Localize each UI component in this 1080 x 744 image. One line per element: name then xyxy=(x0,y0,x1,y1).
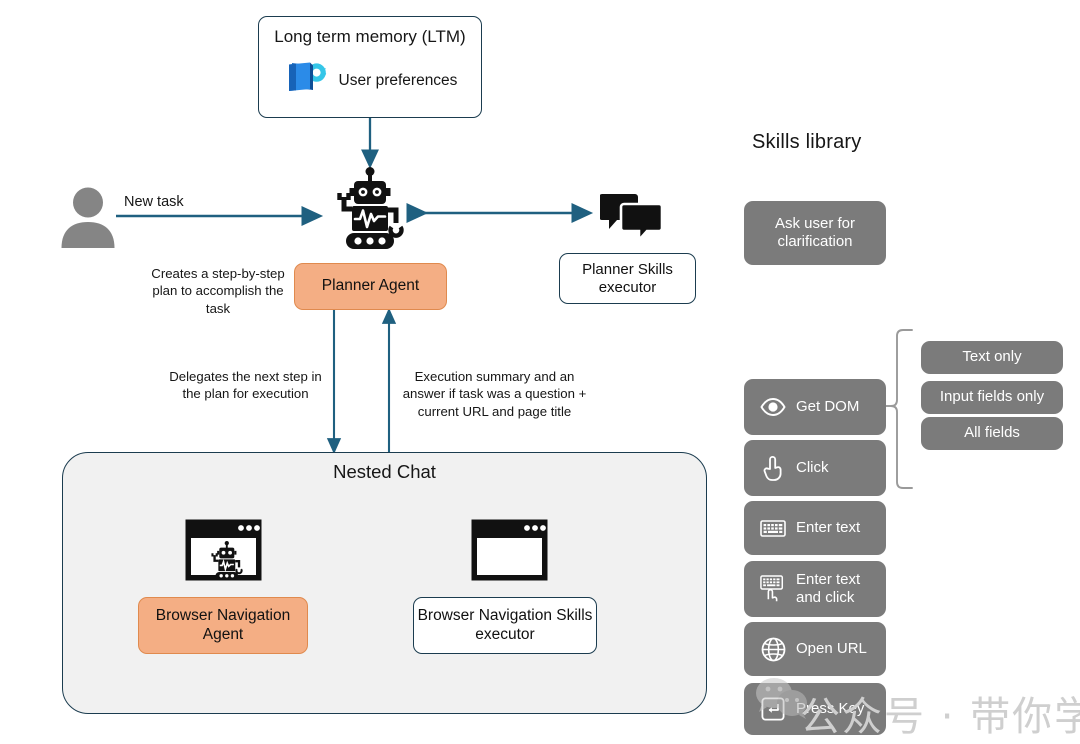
skills-library-title: Skills library xyxy=(752,131,861,154)
browser-navigation-agent-box[interactable]: Browser Navigation Agent xyxy=(138,597,308,654)
nested-chat-panel xyxy=(62,452,707,714)
get-dom-option-all-fields[interactable]: All fields xyxy=(921,417,1063,450)
skill-label: Ask user for clarification xyxy=(744,215,886,251)
chat-bubbles-icon xyxy=(600,192,662,245)
skill-label: Open URL xyxy=(796,640,867,658)
get-dom-option-text-only[interactable]: Text only xyxy=(921,341,1063,374)
skill-label: Enter text xyxy=(796,519,860,537)
browser-navigation-agent-label: Browser Navigation Agent xyxy=(139,607,307,645)
skill-label: Click xyxy=(796,459,829,477)
keyboard-icon xyxy=(760,515,786,541)
browser-navigation-skills-executor-box[interactable]: Browser Navigation Skills executor xyxy=(413,597,597,654)
keyboard-pointer-icon xyxy=(760,574,786,604)
skill-ask-user-for-clarification[interactable]: Ask user for clarification xyxy=(744,201,886,265)
browser-window-robot-icon xyxy=(184,518,263,587)
planner-agent-label: Planner Agent xyxy=(322,277,419,296)
get-dom-option-input-fields-only[interactable]: Input fields only xyxy=(921,381,1063,414)
summary-edge-label: Execution summary and an answer if task … xyxy=(402,368,587,420)
skill-enter-text[interactable]: Enter text xyxy=(744,501,886,555)
planner-skills-executor-box[interactable]: Planner Skills executor xyxy=(559,253,696,304)
browser-navigation-skills-executor-label: Browser Navigation Skills executor xyxy=(414,607,596,645)
ltm-title: Long term memory (LTM) xyxy=(267,27,473,47)
skill-label: Enter text and click xyxy=(796,571,886,607)
skill-label: Get DOM xyxy=(796,398,859,416)
option-label: Text only xyxy=(962,348,1021,366)
planner-skills-executor-label: Planner Skills executor xyxy=(560,261,695,297)
planner-note: Creates a step-by-step plan to accomplis… xyxy=(144,265,292,317)
option-label: All fields xyxy=(964,424,1020,442)
skill-enter-text-and-click[interactable]: Enter text and click xyxy=(744,561,886,617)
delegate-edge-label: Delegates the next step in the plan for … xyxy=(163,368,328,403)
skill-get-dom[interactable]: Get DOM xyxy=(744,379,886,435)
skill-open-url[interactable]: Open URL xyxy=(744,622,886,676)
user-avatar-icon xyxy=(60,186,116,253)
skill-click[interactable]: Click xyxy=(744,440,886,496)
enter-key-icon xyxy=(760,696,786,722)
new-task-edge-label: New task xyxy=(124,194,184,210)
ltm-item-label: User preferences xyxy=(339,72,458,90)
skill-label: Press Key xyxy=(796,700,864,718)
eye-icon xyxy=(760,394,786,420)
browser-window-icon xyxy=(470,518,549,587)
book-gear-icon xyxy=(283,60,329,101)
pointer-hand-icon xyxy=(760,455,786,481)
globe-icon xyxy=(760,636,786,662)
ltm-box: Long term memory (LTM) xyxy=(258,16,482,118)
skill-press-key[interactable]: Press Key xyxy=(744,683,886,735)
option-label: Input fields only xyxy=(940,388,1044,406)
planner-agent-box[interactable]: Planner Agent xyxy=(294,263,447,310)
robot-icon xyxy=(330,167,410,256)
nested-chat-title: Nested Chat xyxy=(62,461,707,483)
